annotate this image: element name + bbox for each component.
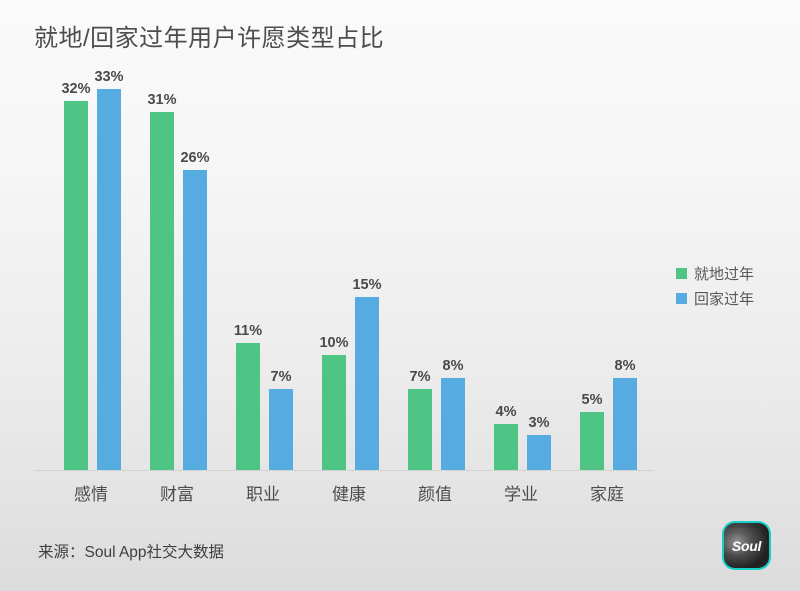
x-axis-line bbox=[34, 470, 654, 471]
bar-group: 5%8% bbox=[580, 66, 642, 470]
bar-group: 31%26% bbox=[150, 66, 212, 470]
bar-slot: 7% bbox=[269, 66, 293, 470]
legend-swatch-blue-icon bbox=[676, 293, 687, 304]
bar-value-label: 33% bbox=[94, 69, 123, 85]
legend-item-1[interactable]: 回家过年 bbox=[676, 287, 786, 310]
bar-slot: 8% bbox=[441, 66, 465, 470]
bar-value-label: 5% bbox=[582, 392, 603, 408]
category-label: 财富 bbox=[146, 480, 208, 505]
bar-value-label: 7% bbox=[410, 369, 431, 385]
bar[interactable] bbox=[355, 297, 379, 470]
category-label: 职业 bbox=[232, 480, 294, 505]
plot-area: 32%33%31%26%11%7%10%15%7%8%4%3%5%8% bbox=[34, 66, 654, 471]
bar[interactable] bbox=[322, 355, 346, 470]
bar-slot: 15% bbox=[355, 66, 379, 470]
bar-value-label: 10% bbox=[319, 335, 348, 351]
legend-label-1: 回家过年 bbox=[694, 288, 754, 309]
bar[interactable] bbox=[150, 112, 174, 470]
bar-slot: 10% bbox=[322, 66, 346, 470]
bar[interactable] bbox=[580, 412, 604, 470]
bar-slot: 8% bbox=[613, 66, 637, 470]
bar-value-label: 31% bbox=[147, 92, 176, 108]
soul-logo-text: Soul bbox=[732, 538, 761, 554]
category-label: 学业 bbox=[490, 480, 552, 505]
category-label: 颜值 bbox=[404, 480, 466, 505]
bar-slot: 11% bbox=[236, 66, 260, 470]
bar[interactable] bbox=[97, 89, 121, 470]
page-title: 就地/回家过年用户许愿类型占比 bbox=[34, 22, 384, 56]
bar-group: 11%7% bbox=[236, 66, 298, 470]
bar-value-label: 4% bbox=[496, 404, 517, 420]
bar[interactable] bbox=[441, 378, 465, 470]
bar-group: 4%3% bbox=[494, 66, 556, 470]
bar[interactable] bbox=[494, 424, 518, 470]
bar[interactable] bbox=[64, 101, 88, 470]
bar[interactable] bbox=[613, 378, 637, 470]
bar-value-label: 15% bbox=[352, 277, 381, 293]
bar-value-label: 3% bbox=[529, 415, 550, 431]
bar-value-label: 8% bbox=[443, 358, 464, 374]
soul-logo-inner: Soul bbox=[724, 523, 769, 568]
category-label: 健康 bbox=[318, 480, 380, 505]
legend-item-0[interactable]: 就地过年 bbox=[676, 262, 786, 285]
legend-label-0: 就地过年 bbox=[694, 263, 754, 284]
bar-group: 10%15% bbox=[322, 66, 384, 470]
bar[interactable] bbox=[183, 170, 207, 470]
category-label: 家庭 bbox=[576, 480, 638, 505]
chart-legend: 就地过年 回家过年 bbox=[676, 262, 786, 312]
bar-slot: 7% bbox=[408, 66, 432, 470]
soul-app-logo[interactable]: Soul bbox=[722, 521, 771, 570]
source-note: 来源：Soul App社交大数据 bbox=[38, 540, 224, 562]
bar-slot: 32% bbox=[64, 66, 88, 470]
bar[interactable] bbox=[236, 343, 260, 470]
bar-slot: 5% bbox=[580, 66, 604, 470]
bar-group: 32%33% bbox=[64, 66, 126, 470]
bar-slot: 4% bbox=[494, 66, 518, 470]
bar-slot: 26% bbox=[183, 66, 207, 470]
bar[interactable] bbox=[527, 435, 551, 470]
bar-value-label: 7% bbox=[271, 369, 292, 385]
category-axis: 感情财富职业健康颜值学业家庭 bbox=[34, 480, 654, 508]
bar-slot: 33% bbox=[97, 66, 121, 470]
bar-slot: 31% bbox=[150, 66, 174, 470]
legend-swatch-green-icon bbox=[676, 268, 687, 279]
chart-slide: 就地/回家过年用户许愿类型占比 32%33%31%26%11%7%10%15%7… bbox=[0, 0, 800, 591]
bar-value-label: 26% bbox=[180, 150, 209, 166]
bar-value-label: 11% bbox=[234, 323, 262, 339]
bar-value-label: 32% bbox=[61, 81, 90, 97]
category-label: 感情 bbox=[60, 480, 122, 505]
bar[interactable] bbox=[408, 389, 432, 470]
bar-group: 7%8% bbox=[408, 66, 470, 470]
bar-slot: 3% bbox=[527, 66, 551, 470]
bar-value-label: 8% bbox=[615, 358, 636, 374]
bar[interactable] bbox=[269, 389, 293, 470]
